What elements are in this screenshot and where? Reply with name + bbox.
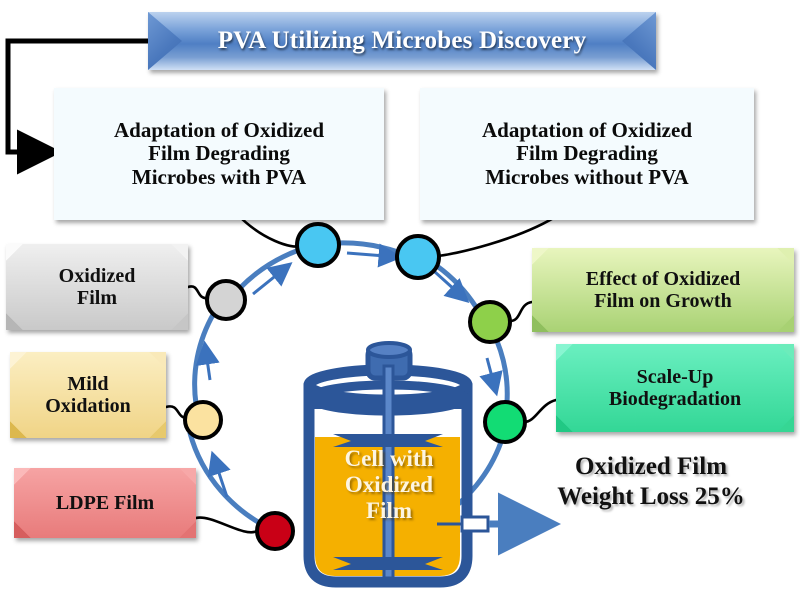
- node-adaptation-with-pva[interactable]: [297, 224, 339, 266]
- figure-canvas: Cell with Oxidized Film PVA Utilizing Mi…: [0, 0, 800, 598]
- cycle-node-layer: [0, 0, 800, 598]
- node-mild-oxidation[interactable]: [185, 402, 221, 438]
- node-effect-on-growth[interactable]: [470, 302, 510, 342]
- node-oxidized-film[interactable]: [207, 281, 245, 319]
- node-adaptation-without-pva[interactable]: [397, 236, 439, 278]
- node-scale-up[interactable]: [485, 402, 525, 442]
- node-ldpe[interactable]: [257, 513, 293, 549]
